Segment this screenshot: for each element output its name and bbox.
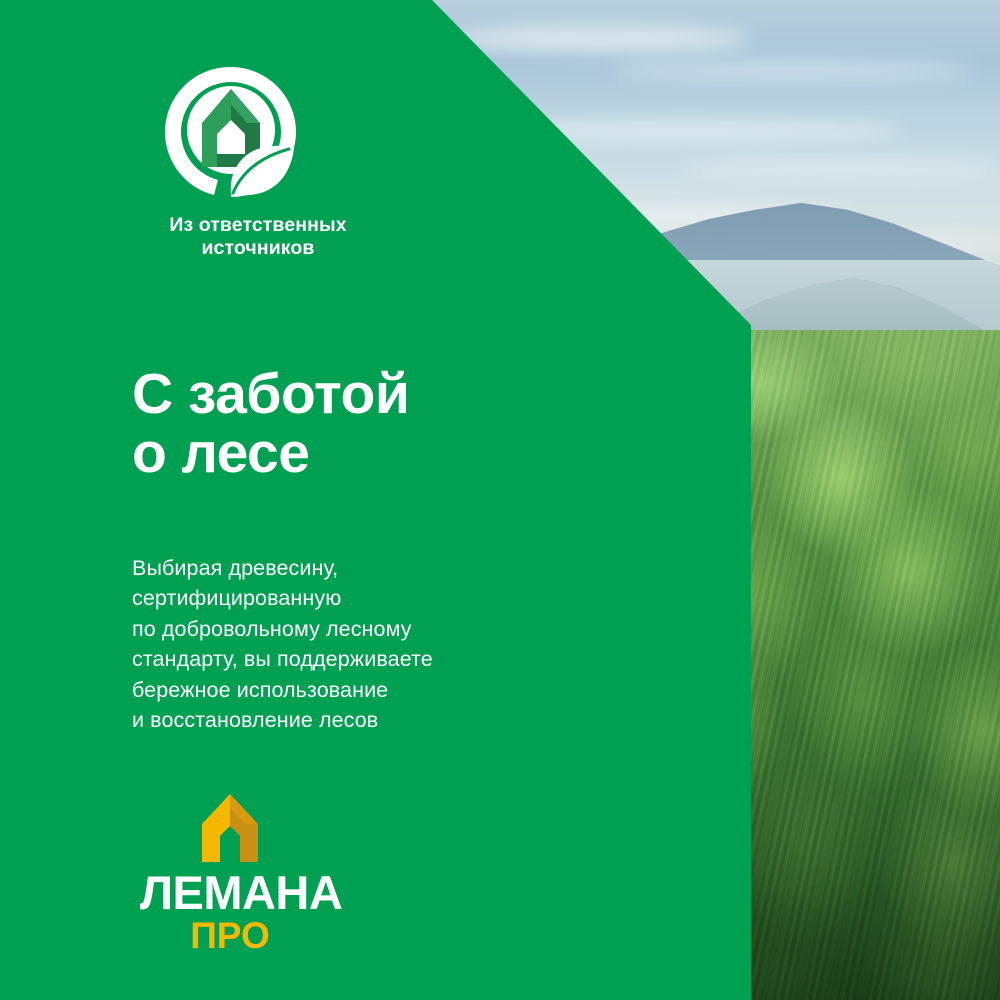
lemana-house-icon	[192, 792, 268, 864]
house-leaf-in-circle-icon	[161, 62, 301, 202]
brand-sub: ПРО	[140, 917, 320, 954]
brand-name: ЛЕМАНА	[140, 869, 320, 916]
certification-badge: Из ответственных источников	[128, 62, 388, 259]
poster: Из ответственных источников С заботой о …	[0, 0, 1000, 1000]
content-area: Из ответственных источников С заботой о …	[0, 0, 751, 1000]
brand-logo: ЛЕМАНА ПРО	[140, 792, 320, 954]
certification-label: Из ответственных источников	[128, 214, 388, 259]
body-paragraph: Выбирая древесину, сертифицированную по …	[132, 553, 433, 736]
page-title: С заботой о лесе	[132, 365, 409, 482]
